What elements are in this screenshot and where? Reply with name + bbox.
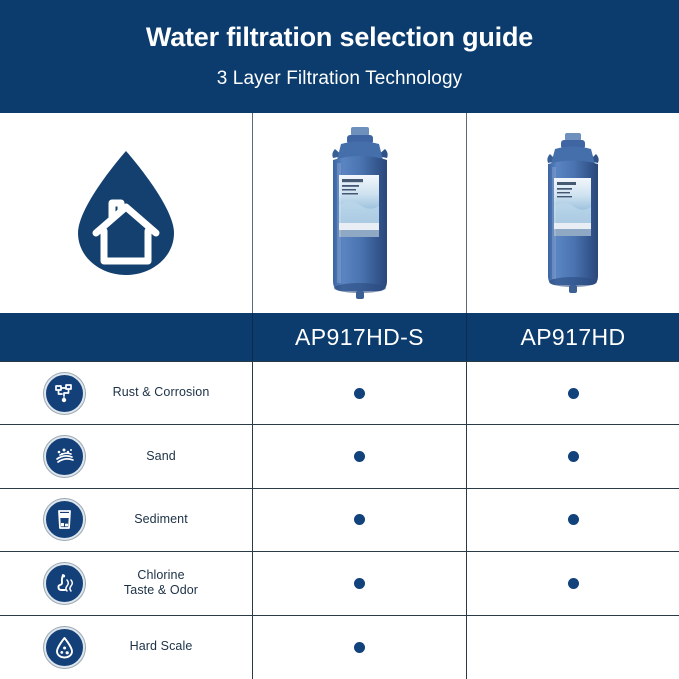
table-row: Rust & Corrosion bbox=[0, 362, 679, 425]
support-cell-ap917hd bbox=[466, 489, 679, 551]
support-cell-ap917hd-s bbox=[252, 552, 466, 614]
feature-label-cell: Hard Scale bbox=[0, 616, 252, 679]
support-cell-ap917hd bbox=[466, 362, 679, 424]
support-cell-ap917hd bbox=[466, 552, 679, 614]
feature-name-label: Rust & Corrosion bbox=[101, 385, 221, 401]
model-name-label: AP917HD-S bbox=[295, 324, 424, 351]
chlorine-odor-nose-icon bbox=[44, 563, 85, 604]
model-row-spacer bbox=[0, 313, 252, 361]
product-image-ap917hd bbox=[466, 113, 679, 313]
feature-label-cell: Rust & Corrosion bbox=[0, 362, 252, 424]
support-dot bbox=[354, 388, 365, 399]
support-dot bbox=[568, 578, 579, 589]
feature-name-label: Sediment bbox=[101, 512, 221, 528]
support-cell-ap917hd bbox=[466, 616, 679, 679]
water-filtration-comparison-chart: Water filtration selection guide 3 Layer… bbox=[0, 0, 679, 679]
feature-label-cell: Sand bbox=[0, 425, 252, 487]
support-cell-ap917hd-s bbox=[252, 616, 466, 679]
water-droplet-house-icon bbox=[74, 149, 178, 277]
support-cell-ap917hd bbox=[466, 425, 679, 487]
model-name-row: AP917HD-S AP917HD bbox=[0, 313, 679, 361]
support-dot bbox=[354, 642, 365, 653]
hard-scale-droplet-icon bbox=[44, 627, 85, 668]
table-row: Sand bbox=[0, 425, 679, 488]
table-row: Chlorine Taste & Odor bbox=[0, 552, 679, 615]
support-dot bbox=[568, 514, 579, 525]
product-image-row bbox=[0, 113, 679, 313]
support-dot bbox=[568, 388, 579, 399]
water-filter-cartridge-icon bbox=[539, 133, 607, 293]
column-header-ap917hd[interactable]: AP917HD bbox=[466, 313, 679, 361]
table-row: Sediment bbox=[0, 489, 679, 552]
support-dot bbox=[354, 451, 365, 462]
support-cell-ap917hd-s bbox=[252, 489, 466, 551]
page-title: Water filtration selection guide bbox=[146, 22, 533, 53]
chart-header: Water filtration selection guide 3 Layer… bbox=[0, 0, 679, 113]
sand-particles-icon bbox=[44, 436, 85, 477]
support-cell-ap917hd-s bbox=[252, 425, 466, 487]
feature-label-cell: Sediment bbox=[0, 489, 252, 551]
product-image-ap917hd-s bbox=[252, 113, 466, 313]
water-filter-cartridge-icon bbox=[323, 127, 397, 299]
feature-label-cell: Chlorine Taste & Odor bbox=[0, 552, 252, 614]
feature-name-label: Hard Scale bbox=[101, 639, 221, 655]
rusty-faucet-icon bbox=[44, 373, 85, 414]
table-row: Hard Scale bbox=[0, 616, 679, 679]
support-dot bbox=[354, 578, 365, 589]
support-dot bbox=[568, 451, 579, 462]
column-header-ap917hd-s[interactable]: AP917HD-S bbox=[252, 313, 466, 361]
feature-name-label: Chlorine Taste & Odor bbox=[101, 568, 221, 599]
support-cell-ap917hd-s bbox=[252, 362, 466, 424]
feature-comparison-table: Rust & Corrosion bbox=[0, 361, 679, 679]
brand-logo-cell bbox=[0, 113, 252, 313]
model-name-label: AP917HD bbox=[520, 324, 625, 351]
feature-name-label: Sand bbox=[101, 449, 221, 465]
support-dot bbox=[354, 514, 365, 525]
sediment-glass-icon bbox=[44, 499, 85, 540]
page-subtitle: 3 Layer Filtration Technology bbox=[217, 68, 462, 90]
